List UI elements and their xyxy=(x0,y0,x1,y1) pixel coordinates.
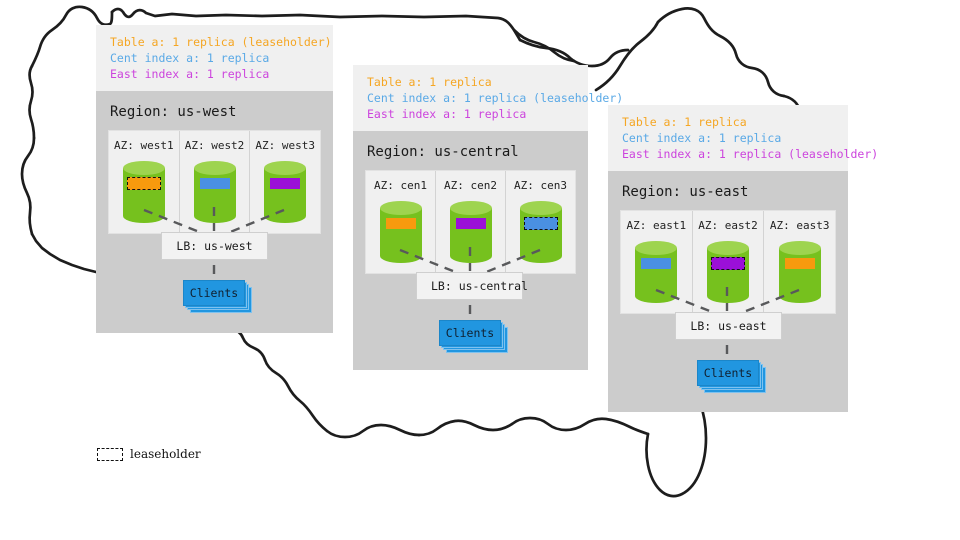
region-title-us-west: Region: us-west xyxy=(96,91,333,130)
node-cylinder-west1[interactable] xyxy=(123,161,165,223)
replica-chip-east-index-a xyxy=(456,218,486,229)
lb-box-us-east[interactable]: LB: us-east xyxy=(675,312,782,340)
az-cell-west3[interactable]: AZ: west3 xyxy=(250,131,320,233)
cylinder-top xyxy=(380,201,422,215)
node-cylinder-cen1[interactable] xyxy=(380,201,422,263)
replica-chip-cent-index-a xyxy=(641,258,671,269)
node-cylinder-cen3[interactable] xyxy=(520,201,562,263)
node-cylinder-west3[interactable] xyxy=(264,161,306,223)
lb-box-us-west[interactable]: LB: us-west xyxy=(161,232,268,260)
replica-summary-us-west: Table a: 1 replica (leaseholder) Cent in… xyxy=(96,25,333,91)
node-cylinder-east3[interactable] xyxy=(779,241,821,303)
node-cylinder-east1[interactable] xyxy=(635,241,677,303)
az-cell-west2[interactable]: AZ: west2 xyxy=(180,131,251,233)
az-label-west1: AZ: west1 xyxy=(114,139,174,152)
lb-box-us-central[interactable]: LB: us-central xyxy=(416,272,523,300)
cylinder-body xyxy=(450,208,492,256)
replica-summary-us-central: Table a: 1 replica Cent index a: 1 repli… xyxy=(353,65,588,131)
cylinder-top xyxy=(194,161,236,175)
diagram-canvas: Table a: 1 replica (leaseholder) Cent in… xyxy=(0,0,960,540)
replica-line-cent-index-a: Cent index a: 1 replica (leaseholder) xyxy=(367,90,576,106)
clients-stack-us-west[interactable]: Clients xyxy=(183,280,245,306)
node-cylinder-cen2[interactable] xyxy=(450,201,492,263)
replica-line-table-a: Table a: 1 replica xyxy=(622,114,836,130)
cylinder-body xyxy=(194,168,236,216)
replica-chip-table-a xyxy=(386,218,416,229)
cylinder-body xyxy=(264,168,306,216)
cylinder-body xyxy=(123,168,165,216)
replica-summary-us-east: Table a: 1 replica Cent index a: 1 repli… xyxy=(608,105,848,171)
cylinder-body xyxy=(635,248,677,296)
cylinder-top xyxy=(123,161,165,175)
node-cylinder-east2[interactable] xyxy=(707,241,749,303)
replica-line-cent-index-a: Cent index a: 1 replica xyxy=(622,130,836,146)
az-label-cen2: AZ: cen2 xyxy=(444,179,497,192)
az-label-west3: AZ: west3 xyxy=(255,139,315,152)
az-row-us-east: AZ: east1 AZ: east2 AZ: east3 xyxy=(620,210,836,314)
az-label-east3: AZ: east3 xyxy=(770,219,830,232)
az-cell-cen2[interactable]: AZ: cen2 xyxy=(436,171,506,273)
replica-chip-cent-index-a xyxy=(200,178,230,189)
region-title-us-central: Region: us-central xyxy=(353,131,588,170)
az-cell-cen3[interactable]: AZ: cen3 xyxy=(506,171,575,273)
az-row-us-west: AZ: west1 AZ: west2 AZ: west3 xyxy=(108,130,321,234)
legend: leaseholder xyxy=(97,447,201,461)
cylinder-body xyxy=(520,208,562,256)
az-cell-west1[interactable]: AZ: west1 xyxy=(109,131,180,233)
az-cell-east1[interactable]: AZ: east1 xyxy=(621,211,693,313)
clients-stack-us-east[interactable]: Clients xyxy=(697,360,759,386)
az-label-west2: AZ: west2 xyxy=(185,139,245,152)
replica-line-east-index-a: East index a: 1 replica xyxy=(110,66,321,82)
cylinder-top xyxy=(635,241,677,255)
replica-chip-cent-index-a-leaseholder xyxy=(524,217,558,230)
cylinder-body xyxy=(779,248,821,296)
replica-chip-table-a-leaseholder xyxy=(127,177,161,190)
clients-label-us-west[interactable]: Clients xyxy=(183,280,245,306)
replica-chip-east-index-a xyxy=(270,178,300,189)
az-label-cen3: AZ: cen3 xyxy=(514,179,567,192)
az-label-east2: AZ: east2 xyxy=(698,219,758,232)
cylinder-top xyxy=(779,241,821,255)
region-title-us-east: Region: us-east xyxy=(608,171,848,210)
replica-chip-table-a xyxy=(785,258,815,269)
cylinder-top xyxy=(707,241,749,255)
replica-line-table-a: Table a: 1 replica (leaseholder) xyxy=(110,34,321,50)
cylinder-body xyxy=(707,248,749,296)
clients-stack-us-central[interactable]: Clients xyxy=(439,320,501,346)
az-cell-east3[interactable]: AZ: east3 xyxy=(764,211,835,313)
replica-line-table-a: Table a: 1 replica xyxy=(367,74,576,90)
az-row-us-central: AZ: cen1 AZ: cen2 AZ: cen3 xyxy=(365,170,576,274)
az-cell-cen1[interactable]: AZ: cen1 xyxy=(366,171,436,273)
cylinder-top xyxy=(450,201,492,215)
az-label-cen1: AZ: cen1 xyxy=(374,179,427,192)
replica-line-east-index-a: East index a: 1 replica (leaseholder) xyxy=(622,146,836,162)
node-cylinder-west2[interactable] xyxy=(194,161,236,223)
replica-chip-east-index-a-leaseholder xyxy=(711,257,745,270)
replica-line-east-index-a: East index a: 1 replica xyxy=(367,106,576,122)
replica-line-cent-index-a: Cent index a: 1 replica xyxy=(110,50,321,66)
cylinder-top xyxy=(520,201,562,215)
az-cell-east2[interactable]: AZ: east2 xyxy=(693,211,765,313)
clients-label-us-east[interactable]: Clients xyxy=(697,360,759,386)
cylinder-top xyxy=(264,161,306,175)
legend-label-leaseholder: leaseholder xyxy=(130,447,201,461)
az-label-east1: AZ: east1 xyxy=(627,219,687,232)
cylinder-body xyxy=(380,208,422,256)
leaseholder-dashed-swatch-icon xyxy=(97,448,123,461)
clients-label-us-central[interactable]: Clients xyxy=(439,320,501,346)
